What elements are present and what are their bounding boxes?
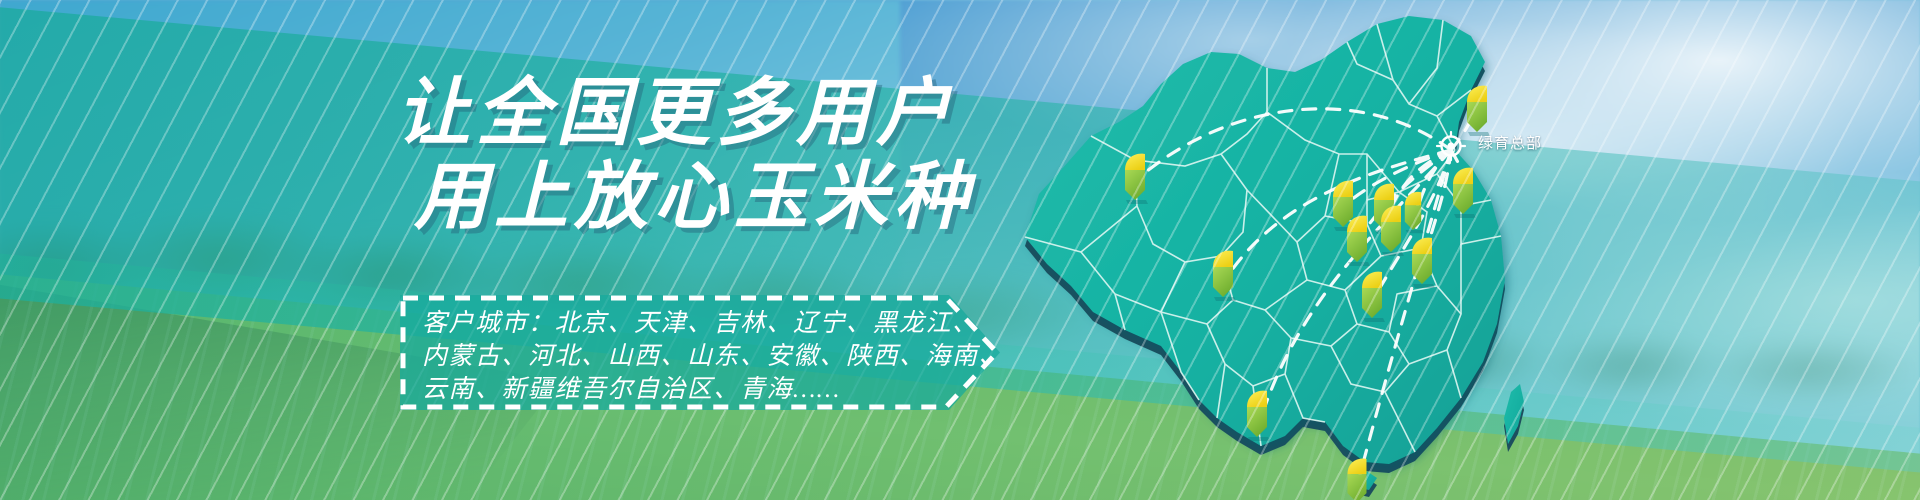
promo-banner: 绿育总部 让全国更多用户 用上放心玉米种 客户城市：北京、天津、吉林、辽宁、黑龙…	[0, 0, 1920, 500]
hq-label: 绿育总部	[1478, 132, 1542, 153]
cities-callout: 客户城市：北京、天津、吉林、辽宁、黑龙江、 内蒙古、河北、山西、山东、安徽、陕西…	[400, 295, 1000, 410]
headline-line-1: 让全国更多用户	[396, 72, 1096, 156]
cities-line-1: 客户城市：北京、天津、吉林、辽宁、黑龙江、	[422, 307, 934, 340]
headline-line-2: 用上放心玉米种	[396, 156, 1096, 240]
headline: 让全国更多用户 用上放心玉米种	[396, 72, 1096, 240]
cities-line-2: 内蒙古、河北、山西、山东、安徽、陕西、海南、	[422, 340, 934, 373]
cities-line-3: 云南、新疆维吾尔自治区、青海……	[422, 373, 934, 406]
cities-text: 客户城市：北京、天津、吉林、辽宁、黑龙江、 内蒙古、河北、山西、山东、安徽、陕西…	[422, 307, 934, 406]
corn-cob-marker-icon	[1467, 86, 1490, 136]
taiwan-island	[1504, 384, 1524, 452]
